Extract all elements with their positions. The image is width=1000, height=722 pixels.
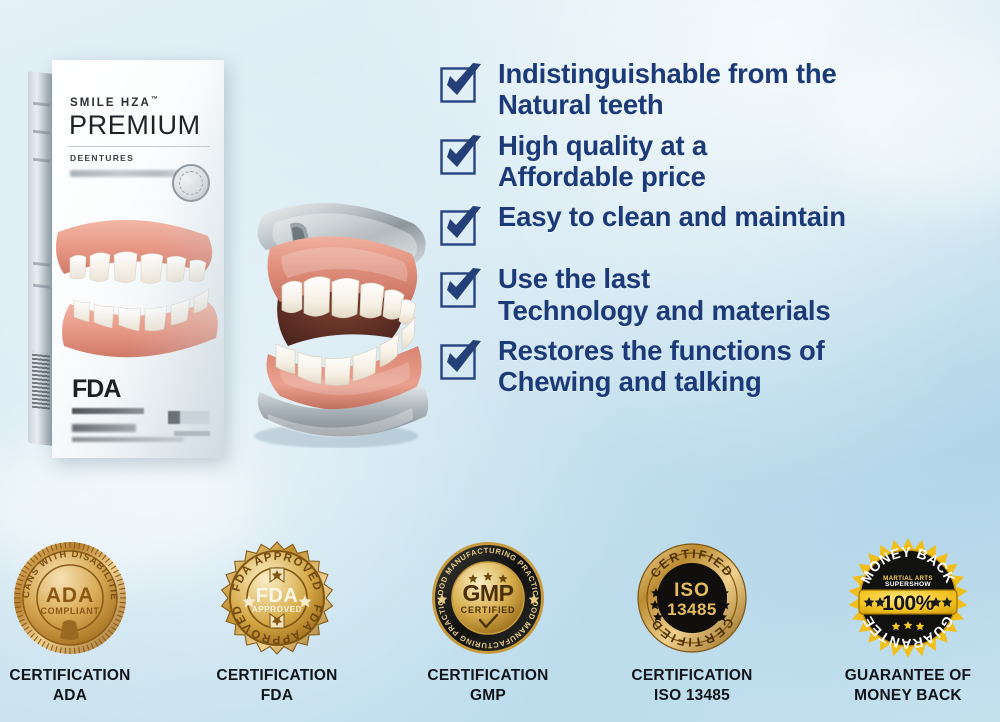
benefit-text: Restores the functions of Chewing and ta… [498, 335, 825, 398]
svg-text:ISO: ISO [674, 580, 710, 601]
barcode-icon [32, 352, 50, 410]
benefit-line-2: Natural teeth [498, 89, 837, 120]
package-fineprint-text [72, 437, 184, 442]
list-item: High quality at a Affordable price [438, 130, 968, 193]
checkbox-checked-icon [438, 205, 484, 249]
caption-line-1: CERTIFICATION [388, 666, 588, 686]
checkbox-checked-icon [438, 62, 484, 106]
certification-ada: AMERICANS WITH DISABILITIES ACT ADA COMP… [0, 530, 170, 707]
denture-model-photo [224, 178, 449, 448]
certification-caption: CERTIFICATION FDA [177, 666, 377, 707]
caption-line-2: ISO 13485 [592, 686, 792, 706]
package-side-panel [28, 71, 54, 446]
benefit-text: Indistinguishable from the Natural teeth [498, 58, 837, 121]
caption-line-1: CERTIFICATION [177, 666, 377, 686]
denture-small-illustration [52, 196, 224, 364]
svg-text:CERTIFIED: CERTIFIED [461, 605, 516, 615]
caption-line-2: MONEY BACK [808, 686, 1000, 706]
list-item: Use the last Technology and materials [438, 263, 968, 326]
checkbox-checked-icon [438, 134, 484, 178]
caption-line-1: CERTIFICATION [592, 666, 792, 686]
checkbox-checked-icon [438, 267, 484, 311]
checkbox-checked-icon [438, 339, 484, 383]
caption-line-2: FDA [177, 686, 377, 706]
benefit-line-2: Technology and materials [498, 295, 830, 326]
benefit-text: Use the last Technology and materials [498, 263, 830, 326]
advertisement-canvas: SMILE HZA™ PREMIUM DEENTURES [0, 0, 1000, 722]
benefit-line-2: Chewing and talking [498, 366, 825, 397]
caption-line-2: ADA [0, 686, 170, 706]
certification-iso: CERTIFIED CERTIFIED ISO 13485 [592, 530, 792, 707]
package-partner-logo-text [174, 431, 210, 436]
certification-caption: GUARANTEE OF MONEY BACK [808, 666, 1000, 707]
benefits-list: Indistinguishable from the Natural teeth… [438, 58, 968, 407]
benefit-line-1: Easy to clean and maintain [498, 201, 846, 232]
fda-approved-seal-icon: FDA APPROVED FDA APPROVED FDA APPROVED [218, 536, 336, 660]
svg-text:APPROVED: APPROVED [252, 605, 303, 614]
svg-text:13485: 13485 [667, 600, 717, 619]
ada-compliant-seal-icon: AMERICANS WITH DISABILITIES ACT ADA COMP… [11, 536, 129, 660]
svg-text:COMPLIANT: COMPLIANT [41, 606, 100, 616]
package-brand-name: SMILE HZA™ [70, 96, 158, 109]
package-fda-subtext [72, 408, 144, 414]
caption-line-1: CERTIFICATION [0, 666, 170, 686]
package-product-line: PREMIUM [69, 110, 201, 141]
certifications-row: AMERICANS WITH DISABILITIES ACT ADA COMP… [0, 530, 1000, 722]
benefit-text: High quality at a Affordable price [498, 130, 707, 193]
package-divider [68, 146, 210, 147]
package-embossed-seal-icon [172, 164, 210, 202]
trademark-symbol: ™ [151, 96, 158, 103]
certification-caption: CERTIFICATION GMP [388, 666, 588, 707]
denture-model-illustration [224, 178, 449, 448]
list-item: Indistinguishable from the Natural teeth [438, 58, 968, 121]
list-item: Easy to clean and maintain [438, 201, 968, 249]
money-back-guarantee-seal-icon: MONEY BACK GUARANTEE MARTIAL ARTS SUPERS… [849, 536, 967, 660]
caption-line-2: GMP [388, 686, 588, 706]
svg-text:GMP: GMP [463, 580, 514, 606]
package-denture-photo [52, 196, 224, 364]
benefit-line-1: Use the last [498, 263, 650, 294]
package-description-text [70, 170, 194, 177]
package-fda-logo-icon: FDA [72, 375, 120, 404]
certification-caption: CERTIFICATION ADA [0, 666, 170, 707]
package-partner-logo-icon [168, 411, 210, 424]
list-item: Restores the functions of Chewing and ta… [438, 335, 968, 398]
certification-gmp: GOOD MANUFACTURING PRACTICE GOOD MANUFAC… [388, 530, 588, 707]
product-package: SMILE HZA™ PREMIUM DEENTURES [28, 60, 238, 460]
package-category: DEENTURES [70, 153, 134, 163]
benefit-line-1: Indistinguishable from the [498, 58, 837, 89]
benefit-line-2: Affordable price [498, 161, 707, 192]
certification-caption: CERTIFICATION ISO 13485 [592, 666, 792, 707]
benefit-line-1: High quality at a [498, 130, 707, 161]
package-code-text [72, 424, 136, 432]
package-front-panel: SMILE HZA™ PREMIUM DEENTURES [52, 60, 224, 458]
svg-text:FDA: FDA [256, 585, 299, 607]
svg-text:ADA: ADA [46, 584, 95, 607]
svg-text:SUPERSHOW: SUPERSHOW [885, 581, 931, 588]
svg-text:100%: 100% [882, 592, 935, 615]
benefit-text: Easy to clean and maintain [498, 201, 846, 232]
iso-13485-certified-seal-icon: CERTIFIED CERTIFIED ISO 13485 [633, 536, 751, 660]
certification-fda: FDA APPROVED FDA APPROVED FDA APPROVED [177, 530, 377, 707]
certification-money-back: MONEY BACK GUARANTEE MARTIAL ARTS SUPERS… [808, 530, 1000, 707]
benefit-line-1: Restores the functions of [498, 335, 825, 366]
gmp-certified-seal-icon: GOOD MANUFACTURING PRACTICE GOOD MANUFAC… [429, 536, 547, 660]
caption-line-1: GUARANTEE OF [808, 666, 1000, 686]
